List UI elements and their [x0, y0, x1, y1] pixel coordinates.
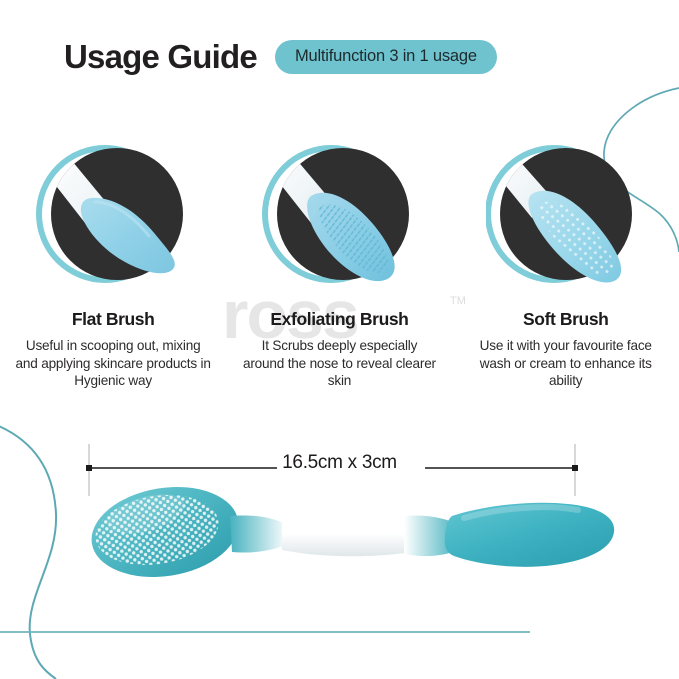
feature-flat-brush: Flat Brush Useful in scooping out, mixin… — [0, 138, 226, 390]
features-row: Flat Brush Useful in scooping out, mixin… — [0, 138, 679, 390]
feature-exfoliating-brush: Exfoliating Brush It Scrubs deeply espec… — [226, 138, 452, 390]
feature-soft-brush: Soft Brush Use it with your favourite fa… — [453, 138, 679, 390]
header: Usage Guide Multifunction 3 in 1 usage — [64, 38, 497, 76]
feature-title-soft-brush: Soft Brush — [523, 309, 608, 330]
feature-description-exfoliating-brush: It Scrubs deeply especially around the n… — [241, 337, 437, 390]
feature-description-soft-brush: Use it with your favourite face wash or … — [468, 337, 664, 390]
feature-description-flat-brush: Useful in scooping out, mixing and apply… — [15, 337, 211, 390]
soft-brush-circle — [486, 138, 646, 290]
feature-title-exfoliating-brush: Exfoliating Brush — [270, 309, 408, 330]
page-title: Usage Guide — [64, 38, 257, 76]
exfoliating-brush-illustration — [259, 138, 419, 290]
soft-brush-illustration — [486, 138, 646, 290]
flat-brush-circle — [33, 138, 193, 290]
product-illustration — [60, 470, 620, 605]
infographic-canvas: Usage Guide Multifunction 3 in 1 usage r… — [0, 0, 679, 679]
product-right-blade — [445, 503, 614, 567]
product-left-head — [85, 477, 245, 587]
exfoliating-brush-circle — [259, 138, 419, 290]
product-left-neck — [230, 515, 288, 552]
flat-brush-illustration — [33, 138, 193, 290]
multifunction-badge: Multifunction 3 in 1 usage — [275, 40, 497, 74]
feature-title-flat-brush: Flat Brush — [72, 309, 155, 330]
